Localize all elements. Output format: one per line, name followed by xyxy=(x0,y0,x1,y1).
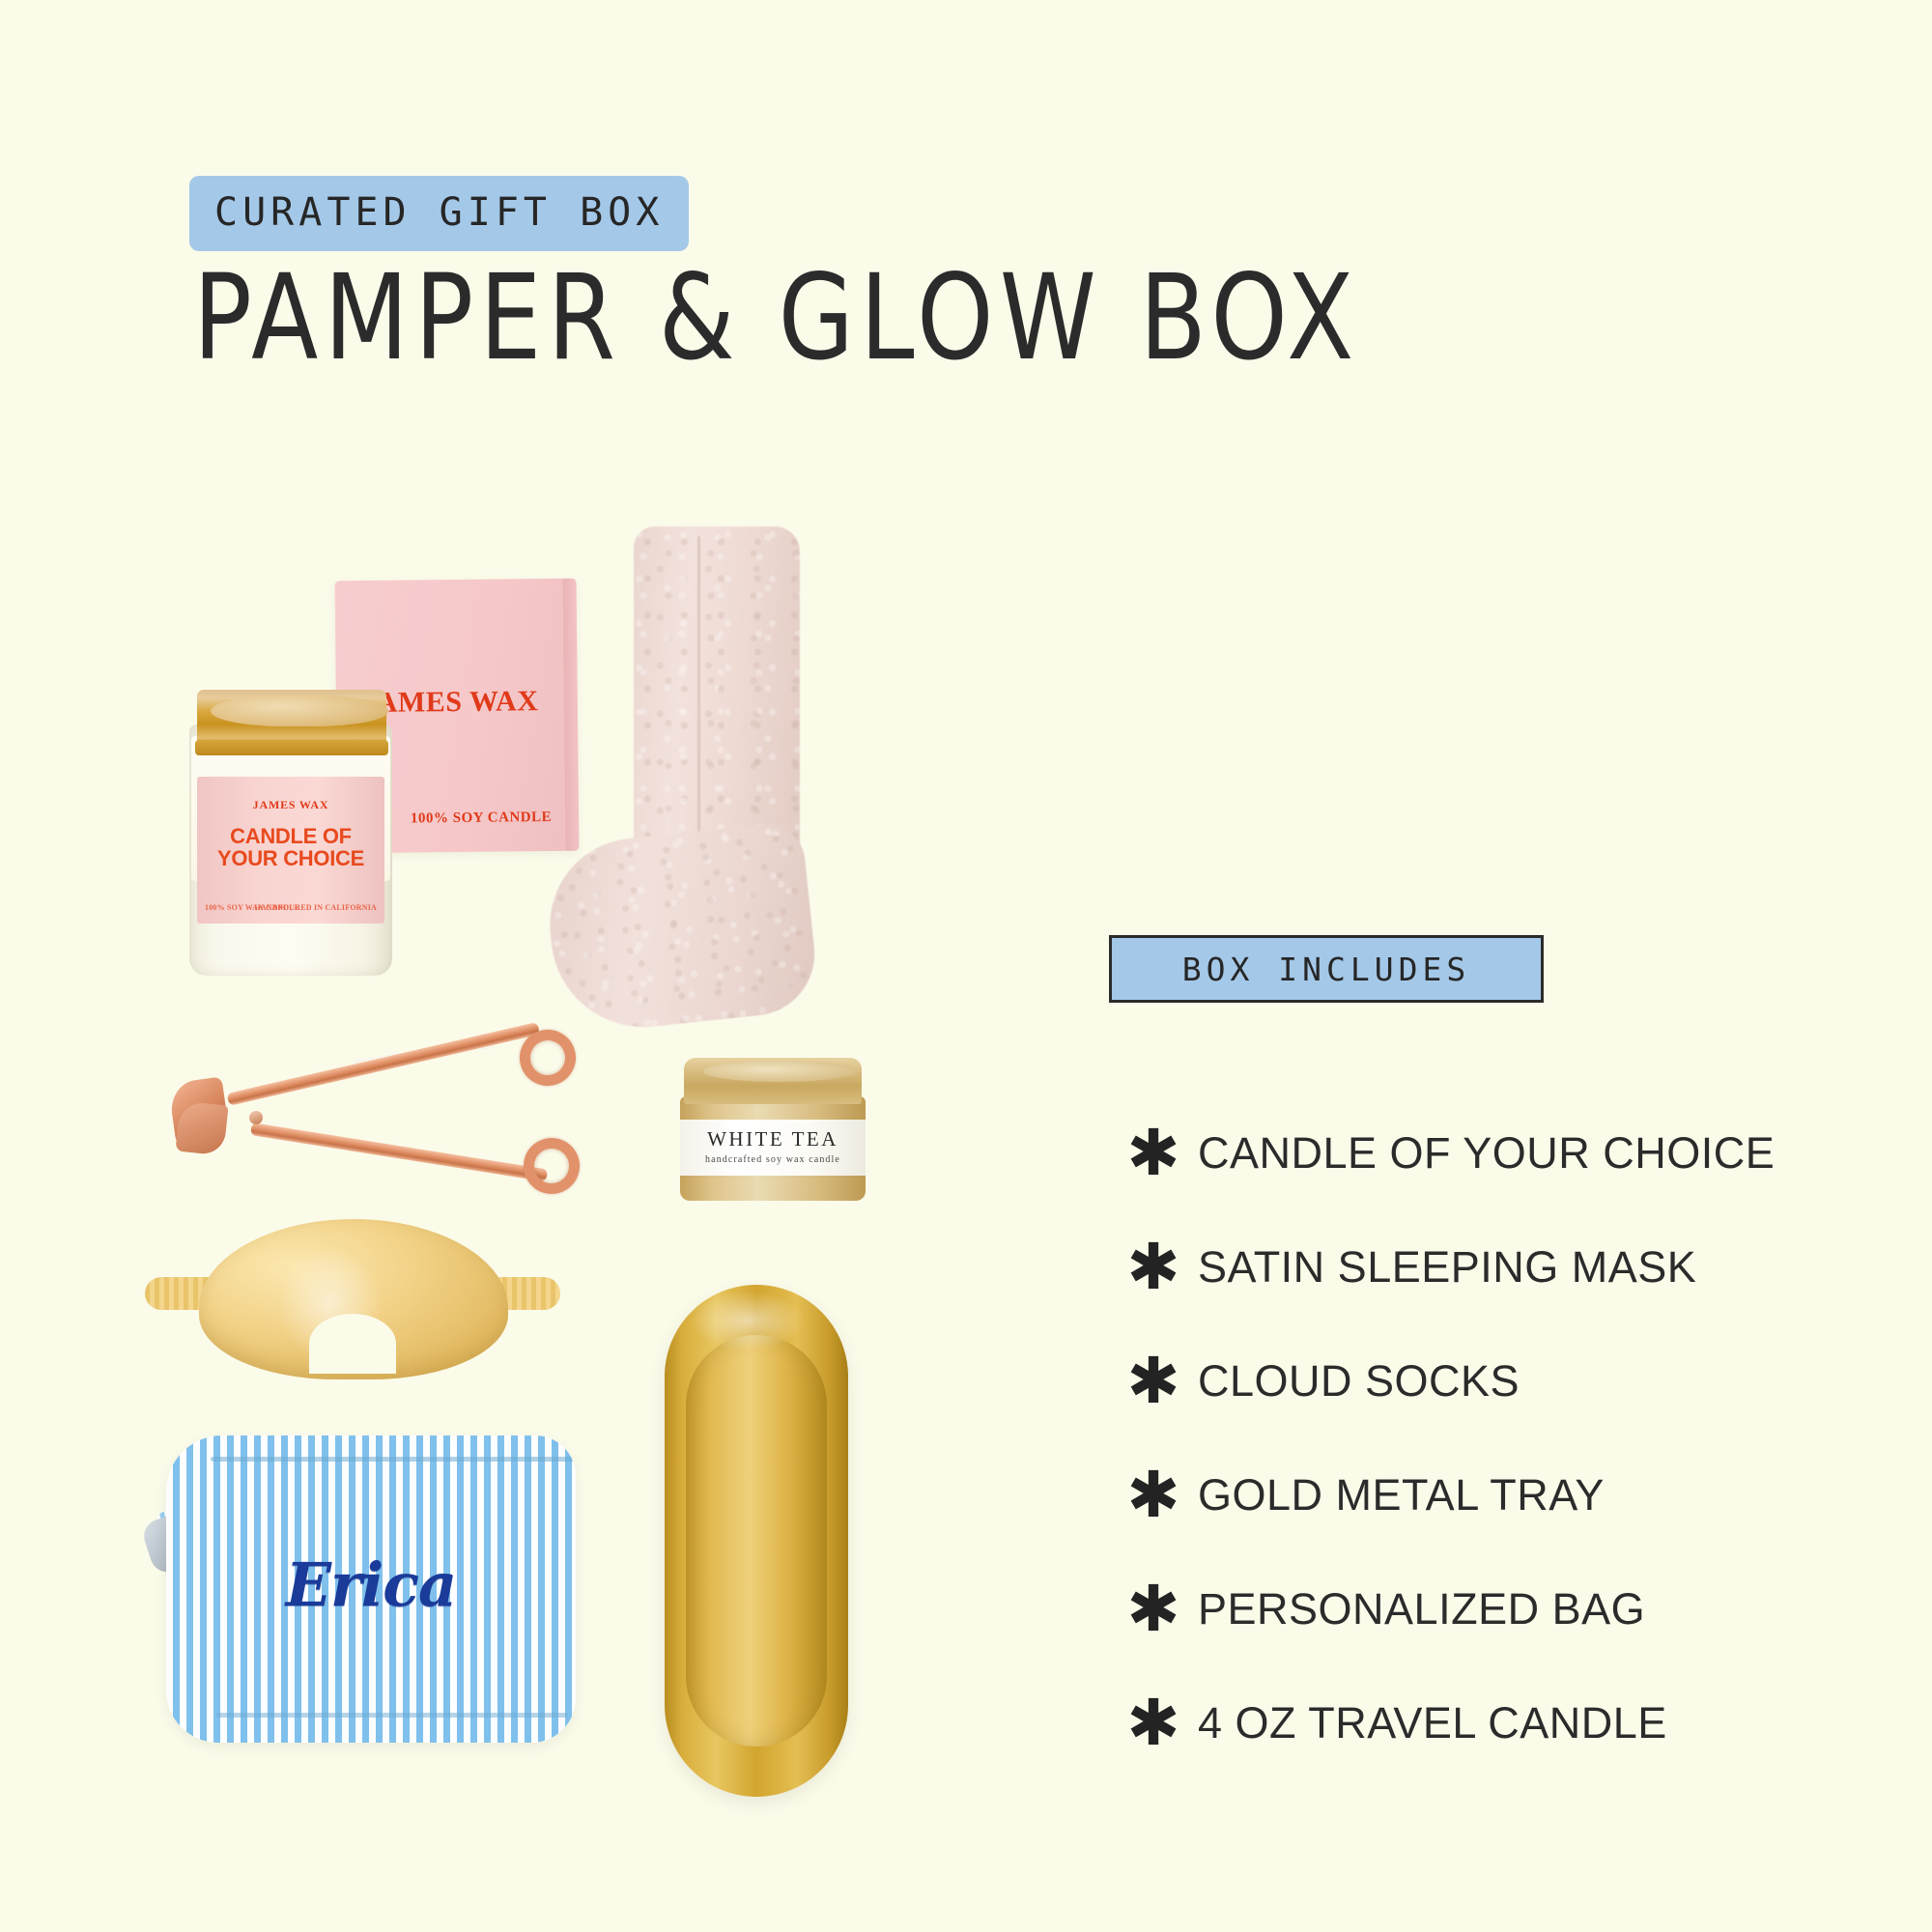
trimmer-arm-lower xyxy=(250,1122,548,1181)
asterisk-icon: ✱ xyxy=(1109,1122,1198,1185)
sock-foot xyxy=(541,820,820,1036)
jar-label: JAMES WAX CANDLE OF YOUR CHOICE 100% SOY… xyxy=(197,777,384,923)
list-item: ✱ CANDLE OF YOUR CHOICE xyxy=(1109,1096,1882,1210)
list-item: ✱ PERSONALIZED BAG xyxy=(1109,1552,1882,1666)
tray-sheen xyxy=(690,1291,806,1350)
box-includes-header: BOX INCLUDES xyxy=(1109,935,1544,1003)
list-item-label: SATIN SLEEPING MASK xyxy=(1198,1242,1696,1293)
carton-subtitle-label: 100% SOY CANDLE xyxy=(411,810,552,828)
list-item-label: GOLD METAL TRAY xyxy=(1198,1470,1605,1520)
list-item: ✱ GOLD METAL TRAY xyxy=(1109,1438,1882,1552)
gold-metal-tray xyxy=(665,1285,848,1797)
tin-subtitle-label: handcrafted soy wax candle xyxy=(680,1154,866,1165)
jar-main-line-1: CANDLE OF xyxy=(230,824,352,848)
tin-lid-top xyxy=(703,1061,858,1082)
trimmer-ring-lower xyxy=(519,1133,583,1198)
trimmer-pivot-screw xyxy=(249,1111,263,1124)
mask-nose-notch xyxy=(309,1314,396,1374)
personalized-bag: Erica xyxy=(141,1428,576,1747)
asterisk-icon: ✱ xyxy=(1109,1691,1198,1755)
satin-sleeping-mask xyxy=(145,1206,560,1389)
asterisk-icon: ✱ xyxy=(1109,1236,1198,1299)
asterisk-icon: ✱ xyxy=(1109,1463,1198,1527)
tray-inner-well xyxy=(686,1335,827,1747)
bag-bottom-seam xyxy=(216,1713,568,1718)
bag-embroidered-name: Erica xyxy=(166,1549,576,1620)
tin-lid xyxy=(684,1058,862,1104)
bag-body: Erica xyxy=(166,1435,576,1743)
list-item-label: PERSONALIZED BAG xyxy=(1198,1584,1645,1634)
jar-lid-rim xyxy=(195,740,388,755)
asterisk-icon: ✱ xyxy=(1109,1350,1198,1413)
tin-label: WHITE TEA handcrafted soy wax candle xyxy=(680,1120,866,1176)
list-item-label: 4 OZ TRAVEL CANDLE xyxy=(1198,1698,1667,1748)
cloud-socks xyxy=(541,526,850,1048)
bag-top-seam xyxy=(211,1457,576,1462)
list-item-label: CANDLE OF YOUR CHOICE xyxy=(1198,1128,1775,1179)
jar-main-line-2: YOUR CHOICE xyxy=(217,846,364,870)
tin-title-label: WHITE TEA xyxy=(680,1127,866,1151)
jar-main-label: CANDLE OF YOUR CHOICE xyxy=(197,825,384,870)
box-includes-list: ✱ CANDLE OF YOUR CHOICE ✱ SATIN SLEEPING… xyxy=(1109,1096,1882,1780)
gift-box-graphic: CURATED GIFT BOX PAMPER & GLOW BOX JAMES… xyxy=(0,0,1932,1932)
list-item: ✱ SATIN SLEEPING MASK xyxy=(1109,1210,1882,1324)
jar-footer-right: HANDPOURED IN CALIFORNIA xyxy=(254,903,377,912)
list-item: ✱ CLOUD SOCKS xyxy=(1109,1324,1882,1438)
list-item: ✱ 4 OZ TRAVEL CANDLE xyxy=(1109,1666,1882,1780)
trimmer-arm-upper xyxy=(227,1022,540,1106)
sock-texture xyxy=(541,820,820,1036)
page-title: PAMPER & GLOW BOX xyxy=(193,259,1360,377)
candle-jar: JAMES WAX CANDLE OF YOUR CHOICE 100% SOY… xyxy=(189,676,392,976)
curated-gift-box-badge: CURATED GIFT BOX xyxy=(189,176,689,251)
asterisk-icon: ✱ xyxy=(1109,1577,1198,1641)
list-item-label: CLOUD SOCKS xyxy=(1198,1356,1520,1406)
white-tea-travel-candle: WHITE TEA handcrafted soy wax candle xyxy=(676,1058,869,1203)
jar-lid-top xyxy=(211,696,388,726)
sock-seam xyxy=(697,536,700,865)
jar-brand-label: JAMES WAX xyxy=(197,798,384,812)
